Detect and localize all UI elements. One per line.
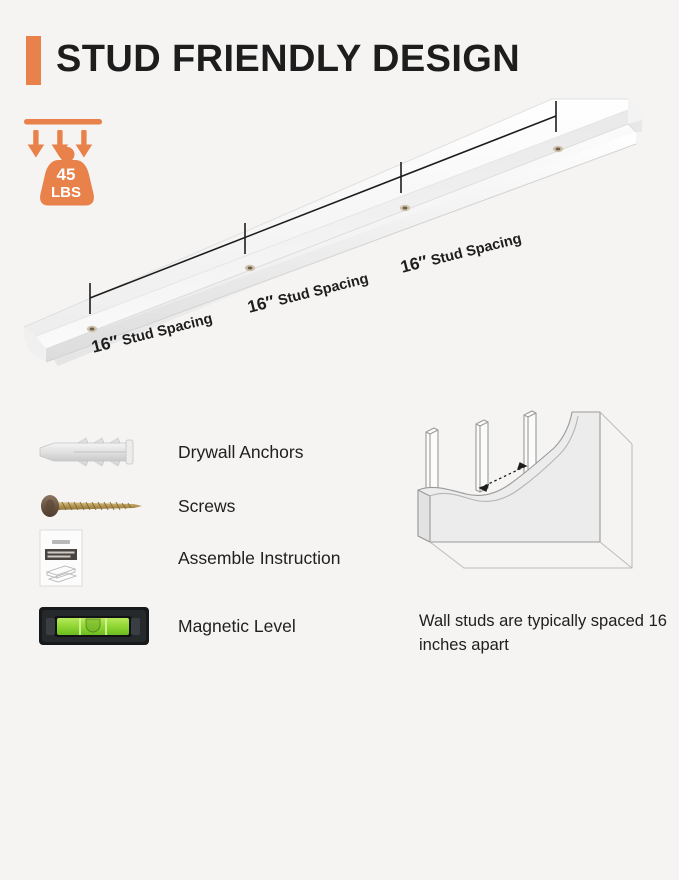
list-item-label: Screws: [178, 478, 235, 534]
accent-bar: [26, 36, 41, 85]
list-item: Screws: [0, 478, 400, 534]
instruction-booklet-icon: [38, 530, 156, 586]
list-item: Drywall Anchors: [0, 424, 400, 480]
list-item-label: Assemble Instruction: [178, 530, 340, 586]
drywall-anchor-icon: [38, 424, 156, 480]
list-item-label: Magnetic Level: [178, 598, 296, 654]
shelf-body-illustration: [24, 99, 642, 366]
wall-stud: [426, 428, 438, 494]
wall-stud-diagram: 16″: [404, 410, 666, 595]
list-item: Magnetic Level: [0, 598, 400, 654]
drywall-sheet: [418, 412, 600, 542]
wall-stud: [476, 420, 488, 492]
hero-product-illustration: 16″ Stud Spacing 16″ Stud Spacing 16″ St…: [0, 86, 679, 391]
page-title: STUD FRIENDLY DESIGN: [56, 33, 520, 85]
screw-hole: [553, 146, 563, 152]
screw-hole: [245, 265, 255, 271]
magnetic-level-icon: [38, 598, 156, 654]
list-item: Assemble Instruction: [0, 530, 400, 586]
stud-diagram-caption: Wall studs are typically spaced 16 inche…: [419, 609, 669, 657]
list-item-label: Drywall Anchors: [178, 424, 303, 480]
header: STUD FRIENDLY DESIGN: [0, 0, 679, 95]
screw-icon: [38, 478, 156, 534]
screw-hole: [400, 205, 410, 211]
screw-hole: [87, 326, 97, 332]
